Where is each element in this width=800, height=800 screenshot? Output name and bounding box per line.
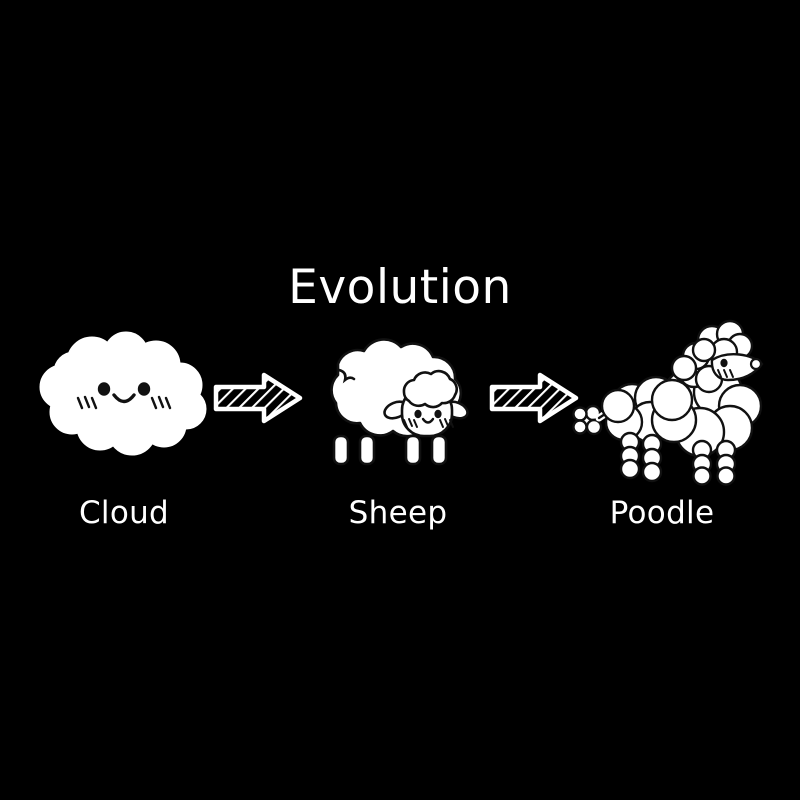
stage-label-sheep: Sheep [278, 498, 518, 529]
evolution-arrow-2 [488, 370, 580, 426]
smiling-cloud-icon [34, 332, 216, 452]
stage-label-cloud: Cloud [4, 498, 244, 529]
poodle-icon [572, 322, 768, 490]
page-title: Evolution [0, 264, 800, 311]
smiling-sheep-icon [298, 330, 490, 490]
hatched-right-arrow-icon [488, 370, 580, 426]
stage-label-poodle: Poodle [542, 498, 782, 529]
sheep-figure [298, 330, 490, 490]
hatched-right-arrow-icon [212, 370, 304, 426]
poodle-figure [572, 322, 768, 490]
cloud-figure [34, 332, 216, 452]
sheep-legs [334, 436, 446, 464]
poodle-nose [751, 359, 761, 369]
evolution-arrow-1 [212, 370, 304, 426]
poodle-eye [720, 359, 727, 367]
evolution-illustration: Evolution [0, 0, 800, 800]
